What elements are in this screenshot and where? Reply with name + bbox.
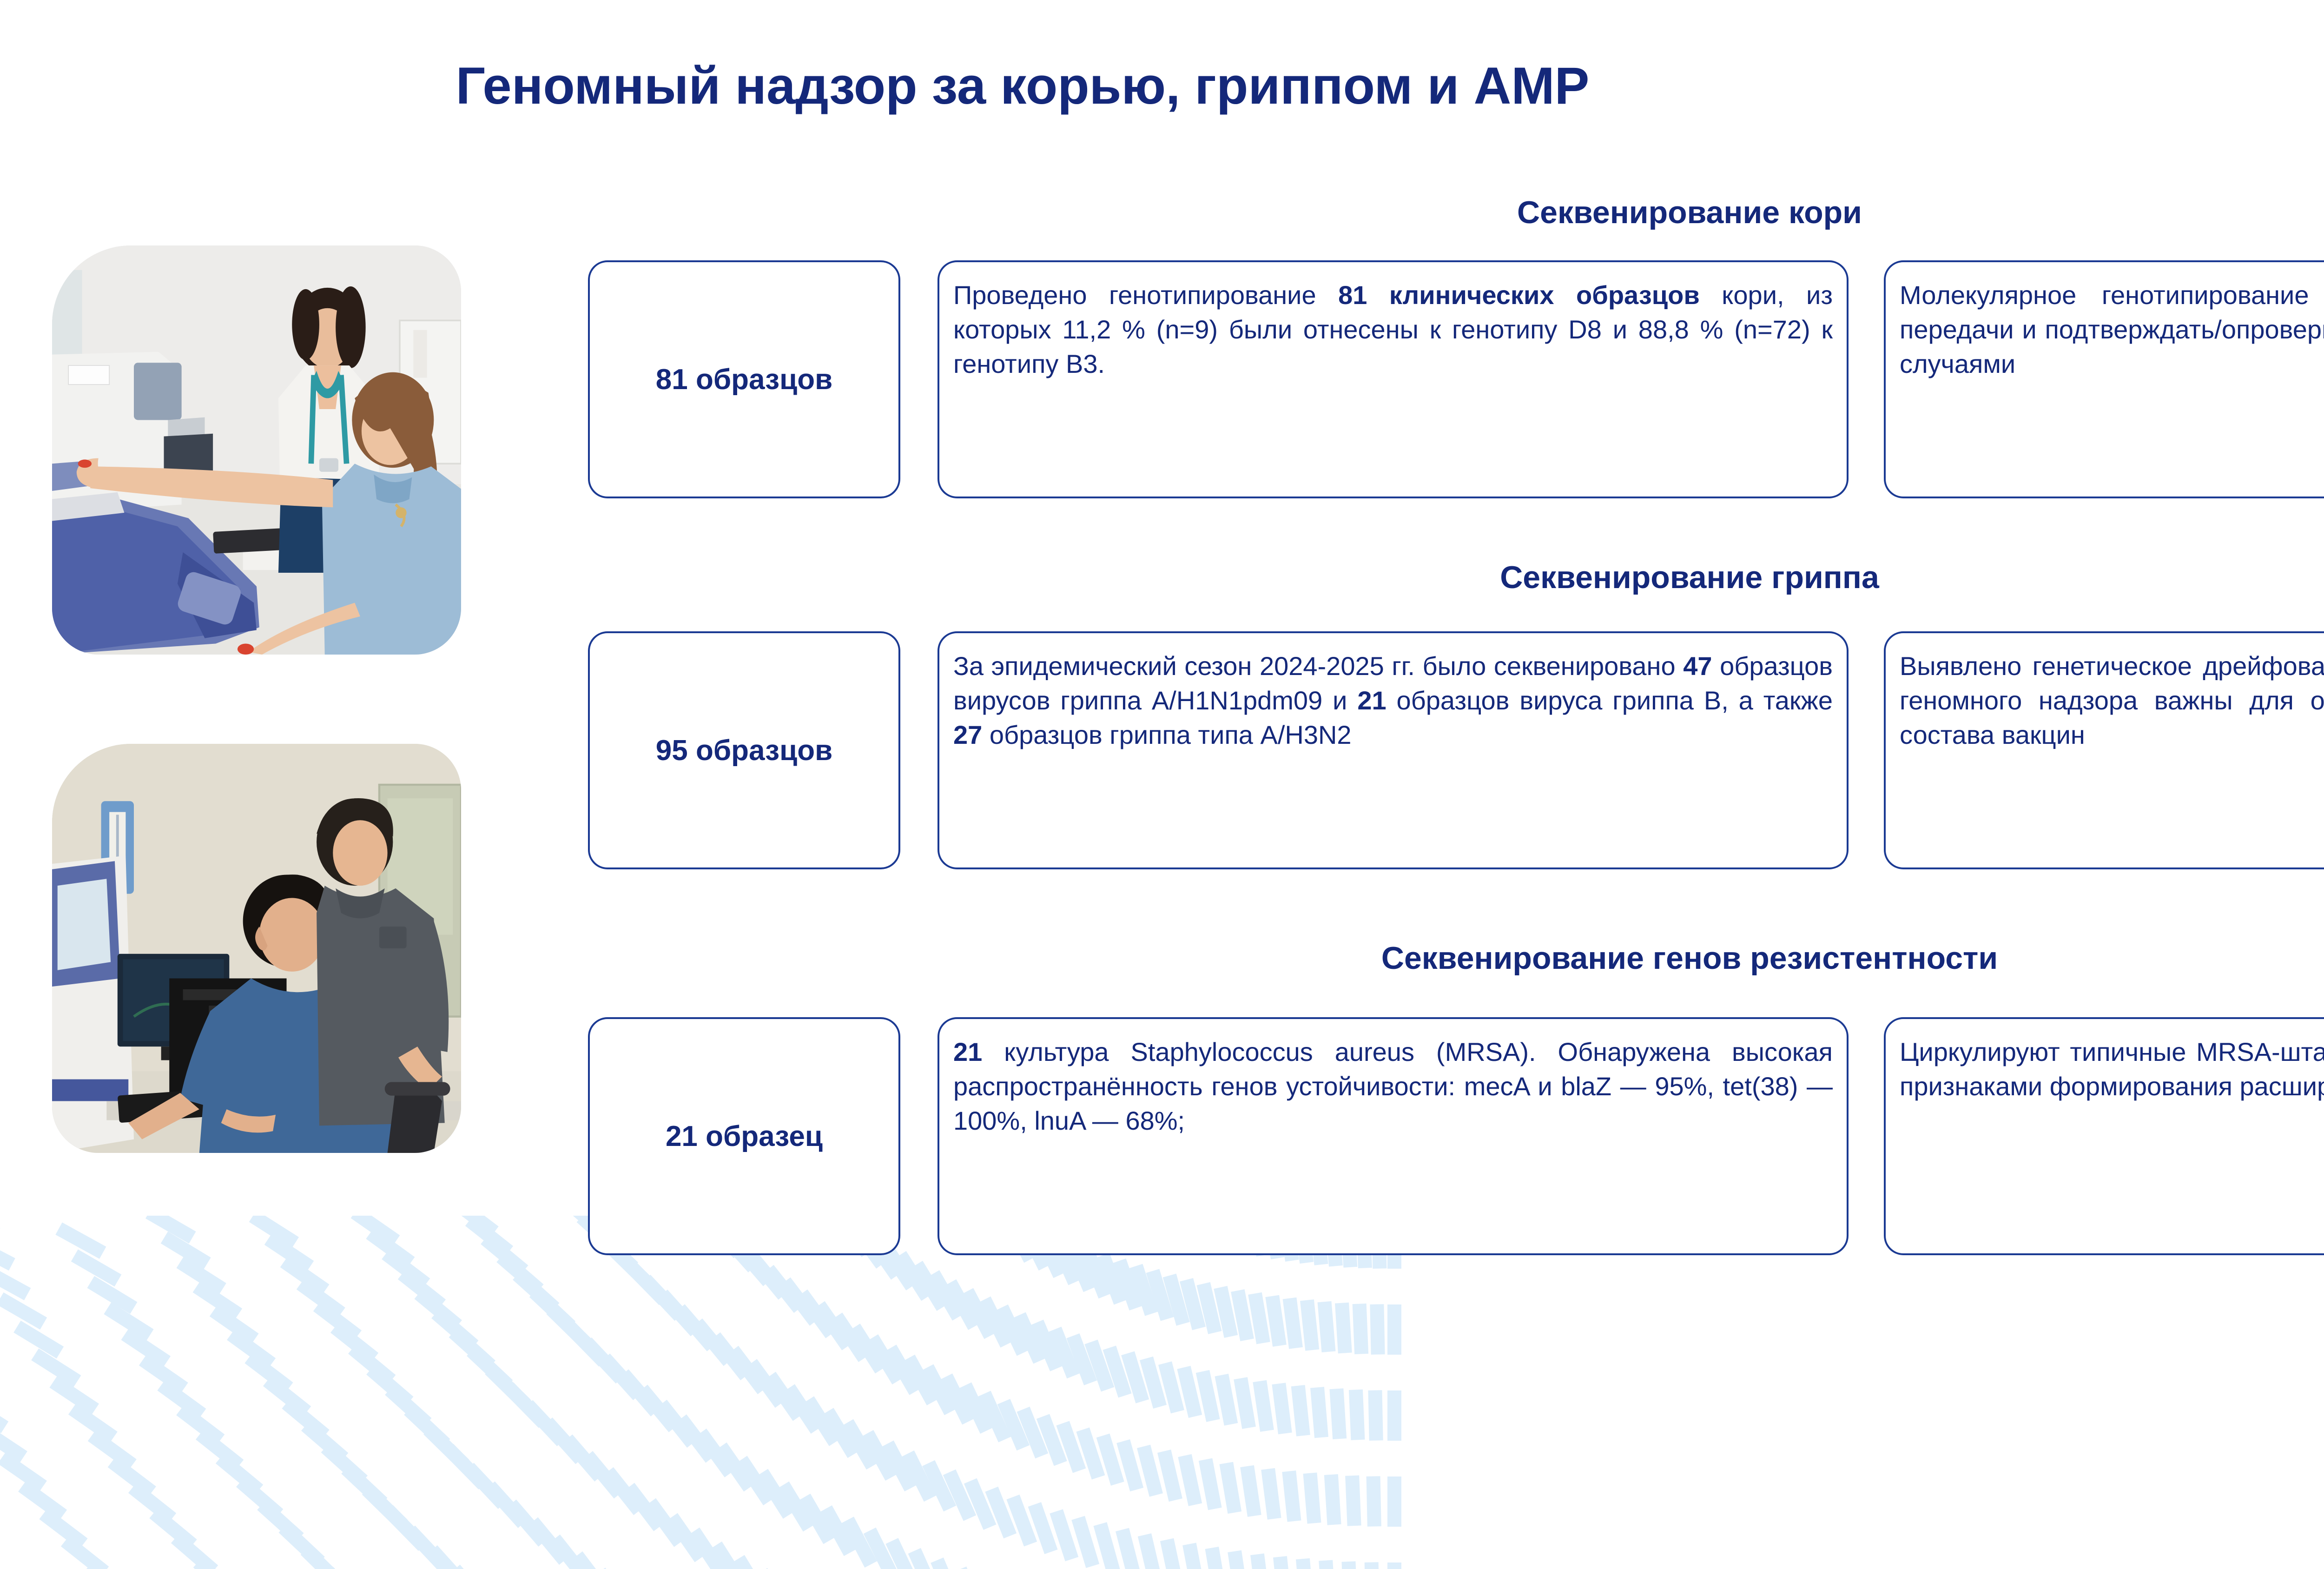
detail-text-measles: Проведено генотипирование 81 клинических…	[953, 278, 1833, 381]
detail-text-flu: За эпидемический сезон 2024-2025 гг. был…	[953, 649, 1833, 752]
detail-box-flu[interactable]: За эпидемический сезон 2024-2025 гг. был…	[938, 631, 1849, 869]
count-label-flu: 95 образцов	[656, 734, 832, 767]
row-amr: 21 образец 21 культура Staphylococcus au…	[588, 1017, 2324, 1255]
photo-flu-lab	[52, 744, 461, 1153]
count-label-amr: 21 образец	[666, 1120, 823, 1153]
note-text-measles: Молекулярное генотипирование позволяет р…	[1900, 278, 2324, 381]
note-box-measles[interactable]: Молекулярное генотипирование позволяет р…	[1884, 260, 2324, 498]
photo-measles-lab	[52, 245, 461, 655]
count-box-amr[interactable]: 21 образец	[588, 1017, 900, 1255]
count-label-measles: 81 образцов	[656, 363, 832, 396]
note-text-amr: Циркулируют типичные MRSA-штаммы с устой…	[1900, 1035, 2324, 1104]
note-box-flu[interactable]: Выявлено генетическое дрейфование циркул…	[1884, 631, 2324, 869]
heading-measles: Секвенирование кори	[590, 194, 2324, 231]
row-measles: 81 образцов Проведено генотипирование 81…	[588, 260, 2324, 498]
count-box-measles[interactable]: 81 образцов	[588, 260, 900, 498]
row-flu: 95 образцов За эпидемический сезон 2024-…	[588, 631, 2324, 869]
page-title: Геномный надзор за корью, гриппом и АМР	[0, 56, 2324, 116]
heading-flu: Секвенирование гриппа	[590, 559, 2324, 596]
count-box-flu[interactable]: 95 образцов	[588, 631, 900, 869]
detail-box-measles[interactable]: Проведено генотипирование 81 клинических…	[938, 260, 1849, 498]
detail-box-amr[interactable]: 21 культура Staphylococcus aureus (MRSA)…	[938, 1017, 1849, 1255]
heading-amr: Секвенирование генов резистентности	[590, 940, 2324, 976]
detail-text-amr: 21 культура Staphylococcus aureus (MRSA)…	[953, 1035, 1833, 1138]
decorative-rhombus-pattern	[0, 1216, 2324, 1569]
note-text-flu: Выявлено генетическое дрейфование циркул…	[1900, 649, 2324, 752]
note-box-amr[interactable]: Циркулируют типичные MRSA-штаммы с устой…	[1884, 1017, 2324, 1255]
